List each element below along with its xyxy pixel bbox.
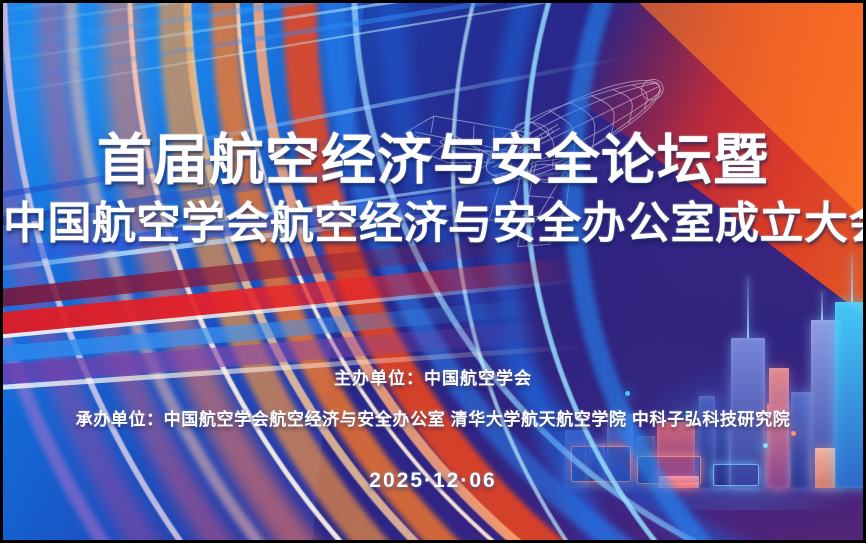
title-line-1: 首届航空经济与安全论坛暨 xyxy=(3,129,863,191)
event-poster: 首届航空经济与安全论坛暨 中国航空学会航空经济与安全办公室成立大会 主办单位：中… xyxy=(0,0,866,543)
event-date: 2025·12·06 xyxy=(3,469,863,493)
organizer-block: 主办单位：中国航空学会 承办单位：中国航空学会航空经济与安全办公室 清华大学航天… xyxy=(3,367,863,432)
co-host-organizations: 承办单位：中国航空学会航空经济与安全办公室 清华大学航天航空学院 中科子弘科技研… xyxy=(3,408,863,432)
title-line-2: 中国航空学会航空经济与安全办公室成立大会 xyxy=(3,198,863,250)
poster-title: 首届航空经济与安全论坛暨 中国航空学会航空经济与安全办公室成立大会 xyxy=(3,129,863,250)
host-organization: 主办单位：中国航空学会 xyxy=(3,367,863,391)
